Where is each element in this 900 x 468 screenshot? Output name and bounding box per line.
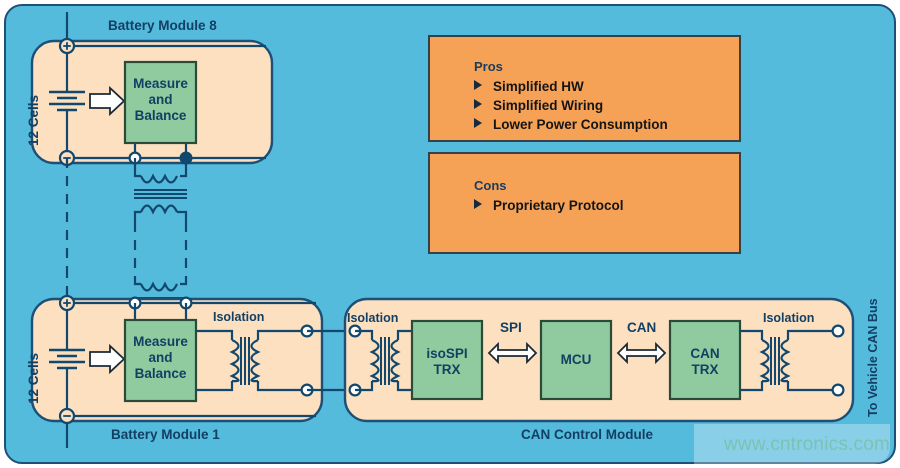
module-8-chip-label: Measure and Balance [125,76,196,124]
mcu-label: MCU [541,352,611,368]
cons-box: Cons Proprietary Protocol [428,152,741,254]
pros-item-text: Lower Power Consumption [493,117,668,132]
bullet-triangle-icon [474,80,482,90]
module-1-cells-label: 12 Cells [26,353,42,404]
bullet-triangle-icon [474,99,482,109]
isospi-trx-line-1: isoSPI [412,346,482,362]
bullet-triangle-icon [474,118,482,128]
mcu-line-1: MCU [541,352,611,368]
module-8-title: Battery Module 8 [108,18,217,34]
pros-item-text: Simplified HW [493,79,584,94]
cons-item-text: Proprietary Protocol [493,198,624,213]
pros-list: Simplified HW Simplified Wiring Lower Po… [474,77,668,134]
module-8-chip-line-3: Balance [125,108,196,124]
module-8-cells-label: 12 Cells [26,95,42,146]
pros-list-item: Simplified HW [474,77,668,96]
watermark-text: www.cntronics.com [724,434,890,456]
module-1-isolation-label: Isolation [213,310,264,324]
pros-list-item: Simplified Wiring [474,96,668,115]
can-control-module-title: CAN Control Module [521,427,653,443]
pros-box: Pros Simplified HW Simplified Wiring Low… [428,35,741,142]
module-1-chip-line-2: and [125,350,196,366]
can-trx-line-1: CAN [670,346,740,362]
module-1-chip-label: Measure and Balance [125,334,196,382]
can-bus-out-node-bottom [833,385,844,396]
isospi-trx-line-2: TRX [412,362,482,378]
module-1-terminal-minus [60,409,74,423]
can-trx-label: CAN TRX [670,346,740,378]
isospi-trx-label: isoSPI TRX [412,346,482,378]
interlink-transformer-top [134,158,187,222]
cons-heading: Cons [474,178,507,193]
module-8-terminal-plus [60,39,74,53]
pros-item-text: Simplified Wiring [493,98,603,113]
interlink-dashed-continuation [135,222,186,276]
cons-list-item: Proprietary Protocol [474,196,624,215]
pros-list-item: Lower Power Consumption [474,115,668,134]
pros-heading: Pros [474,59,503,74]
module-1-terminal-plus [60,296,74,310]
diagram-canvas: Battery Module 8 12 Cells Measure and Ba… [0,0,900,468]
can-bus-label: CAN [627,320,656,335]
can-bus-out-node-top [833,326,844,337]
module-1-chip-line-3: Balance [125,366,196,382]
module-1-title: Battery Module 1 [111,427,220,443]
vehicle-can-bus-label: To Vehicle CAN Bus [866,298,880,417]
can-trx-line-2: TRX [670,362,740,378]
bullet-triangle-icon [474,199,482,209]
spi-bus-label: SPI [500,320,522,335]
cons-list: Proprietary Protocol [474,196,624,215]
module-8-chip-line-2: and [125,92,196,108]
can-module-isolation-left-label: Isolation [347,311,398,325]
module-8-chip-line-1: Measure [125,76,196,92]
module-1-chip-line-1: Measure [125,334,196,350]
can-module-isolation-right-label: Isolation [763,311,814,325]
